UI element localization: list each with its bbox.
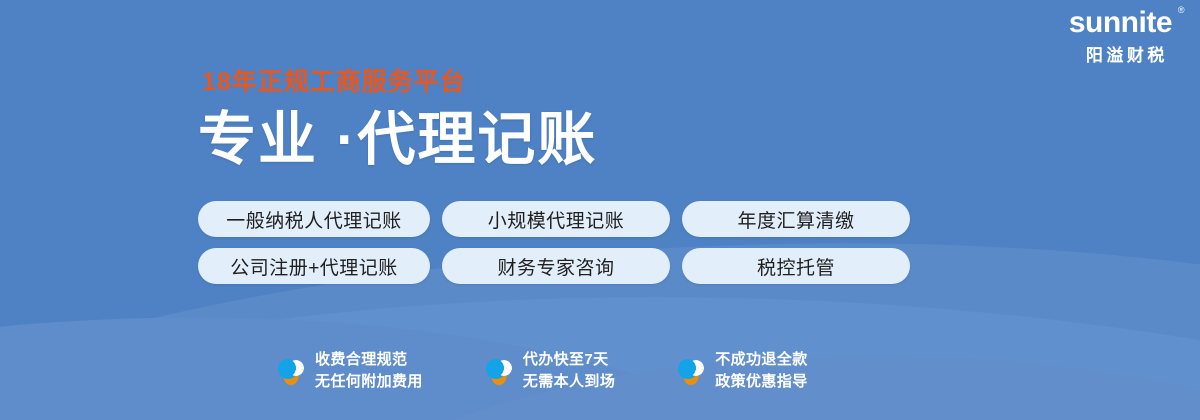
service-pill-tax-control-custody[interactable]: 税控托管 xyxy=(682,248,910,284)
feature-item-pricing: 收费合理规范 无任何附加费用 xyxy=(277,349,423,393)
feature-text-speed: 代办快至7天 无需本人到场 xyxy=(523,349,615,393)
brand-logo[interactable]: sunnite ® 阳溢财税 xyxy=(1069,8,1182,64)
feature-item-guarantee: 不成功退全款 政策优惠指导 xyxy=(677,349,807,393)
feature-line-1: 不成功退全款 xyxy=(715,349,807,371)
feature-text-guarantee: 不成功退全款 政策优惠指导 xyxy=(715,349,807,393)
service-pill-small-scale-bookkeeping[interactable]: 小规模代理记账 xyxy=(442,201,670,237)
hero-eyebrow: 18年正规工商服务平台 xyxy=(202,70,597,95)
brand-logo-text: sunnite xyxy=(1069,6,1172,39)
half-moon-coin-icon xyxy=(677,355,705,387)
feature-line-2: 无需本人到场 xyxy=(523,371,615,393)
feature-line-2: 政策优惠指导 xyxy=(715,371,807,393)
hero-heading-block: 18年正规工商服务平台 专业 ·代理记账 xyxy=(198,70,597,169)
feature-item-speed: 代办快至7天 无需本人到场 xyxy=(485,349,615,393)
feature-line-1: 代办快至7天 xyxy=(523,349,615,371)
half-moon-coin-icon xyxy=(485,355,513,387)
feature-line-1: 收费合理规范 xyxy=(315,349,423,371)
service-pill-general-taxpayer-bookkeeping[interactable]: 一般纳税人代理记账 xyxy=(198,201,430,237)
feature-text-pricing: 收费合理规范 无任何附加费用 xyxy=(315,349,423,393)
feature-line-2: 无任何附加费用 xyxy=(315,371,423,393)
half-moon-coin-icon xyxy=(277,355,305,387)
crescent-shape xyxy=(288,360,304,376)
crescent-shape xyxy=(688,360,704,376)
feature-strip: 收费合理规范 无任何附加费用 代办快至7天 无需本人到场 不成功退全款 xyxy=(277,349,808,393)
service-pill-grid: 一般纳税人代理记账 小规模代理记账 年度汇算清缴 公司注册+代理记账 财务专家咨… xyxy=(198,201,910,284)
crescent-shape xyxy=(496,360,512,376)
registered-trademark-icon: ® xyxy=(1178,6,1184,15)
promo-banner: sunnite ® 阳溢财税 18年正规工商服务平台 专业 ·代理记账 一般纳税… xyxy=(0,0,1200,420)
service-pill-finance-expert-consulting[interactable]: 财务专家咨询 xyxy=(442,248,670,284)
brand-logo-subtitle: 阳溢财税 xyxy=(1069,47,1182,64)
service-pill-annual-tax-settlement[interactable]: 年度汇算清缴 xyxy=(682,201,910,237)
hero-headline: 专业 ·代理记账 xyxy=(198,111,597,169)
service-pill-company-registration-bookkeeping[interactable]: 公司注册+代理记账 xyxy=(198,248,430,284)
brand-logo-wordmark: sunnite ® xyxy=(1069,8,1182,38)
